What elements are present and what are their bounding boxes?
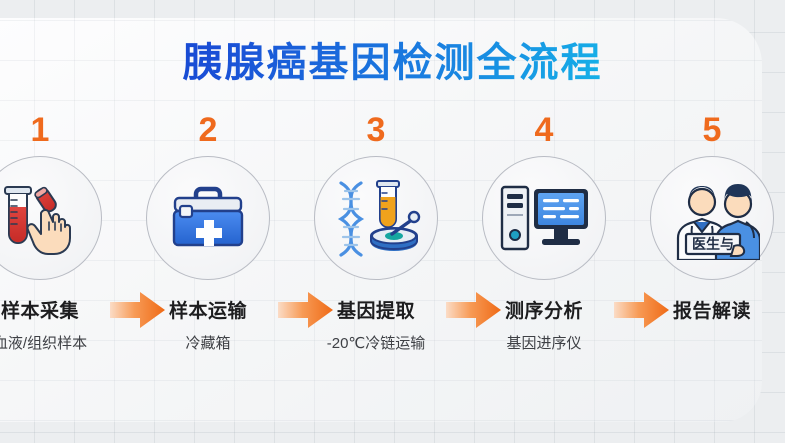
step-icon-circle[interactable] [0,156,102,280]
step-number: 2 [128,112,288,150]
step-5: 5 医生 [632,112,785,332]
step-icon-circle[interactable] [482,156,606,280]
step-sublabel: 冷藏箱 [128,332,288,353]
step-4: 4 [464,112,624,353]
computer-sequencer-icon [498,181,590,255]
step-3: 3 [296,112,456,353]
step-icon-circle[interactable]: 医生与 [650,156,774,280]
step-sublabel: 基因进序仪 [464,332,624,353]
test-tube-hand-icon [0,177,83,259]
step-1: 1 [0,112,120,353]
doctor-patient-icon: 医生与 [664,176,760,260]
process-steps: 1 [0,112,785,382]
step-label: 测序分析 [464,296,624,323]
step-2: 2 样本运输 冷藏箱 [128,112,288,353]
step-sublabel: 血液/组织样本 [0,332,120,353]
step-sublabel: -20℃冷链运输 [296,332,456,353]
step-icon-circle[interactable] [314,156,438,280]
step-label: 基因提取 [296,296,456,323]
step-label: 报告解读 [632,296,785,323]
step-number: 4 [464,112,624,150]
sign-text: 医生与 [692,236,734,252]
step-label: 样本运输 [128,296,288,323]
step-number: 1 [0,112,120,150]
dna-tube-petri-icon [331,177,421,259]
step-number: 5 [632,112,785,150]
page-title: 胰腺癌基因检测全流程 [0,30,785,88]
step-icon-circle[interactable] [146,156,270,280]
medical-cooler-box-icon [166,180,250,256]
step-number: 3 [296,112,456,150]
step-label: 样本采集 [0,296,120,323]
